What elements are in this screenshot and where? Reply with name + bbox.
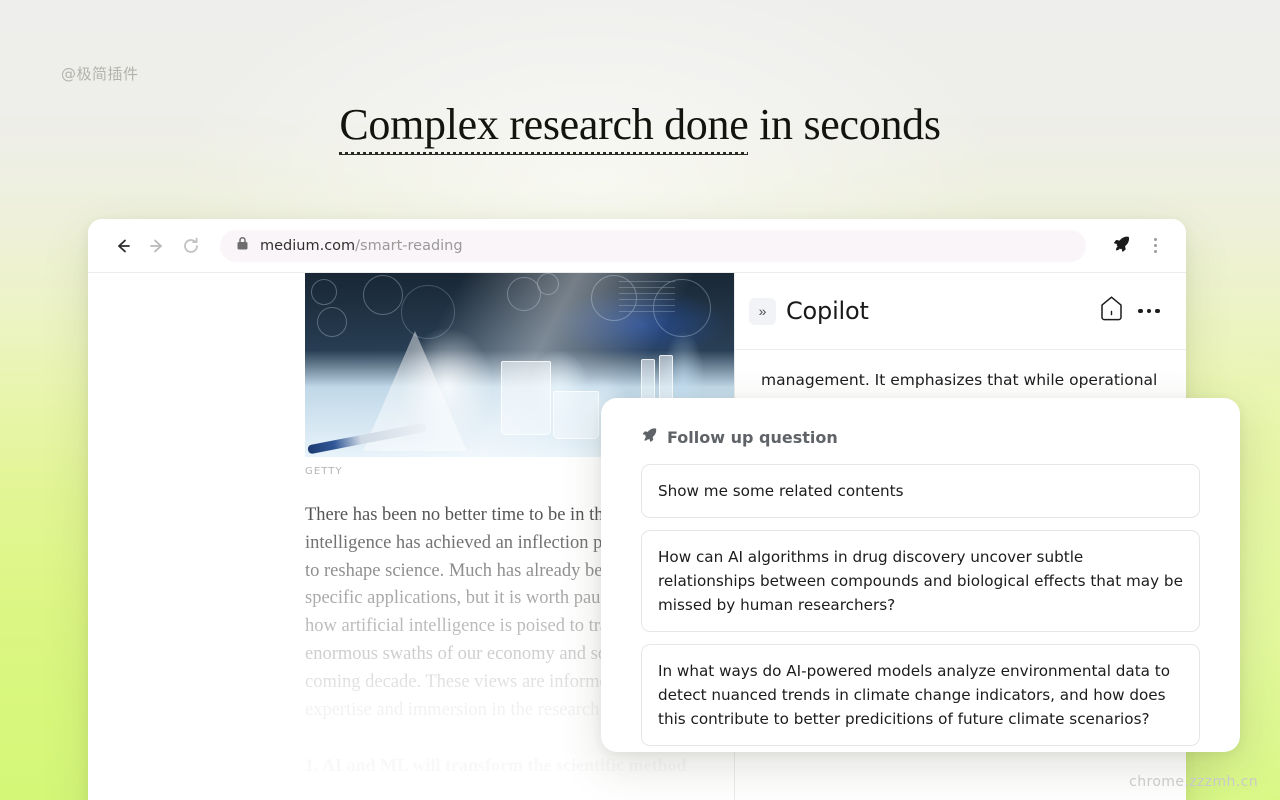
address-bar-path: /smart-reading [355,238,462,254]
forward-button[interactable] [140,229,174,263]
copilot-header: » Copilot [735,273,1186,350]
address-bar[interactable]: medium.com/smart-reading [220,230,1086,262]
copilot-collapse-button[interactable]: » [749,298,776,325]
reload-button[interactable] [174,229,208,263]
browser-menu-button[interactable] [1138,229,1172,263]
page-title: Complex research done in seconds [0,99,1280,151]
copilot-more-button[interactable] [1134,296,1164,326]
browser-toolbar: medium.com/smart-reading [88,219,1186,272]
watermark-top-left: @极简插件 [61,63,139,84]
address-bar-url: medium.com/smart-reading [260,238,463,254]
rocket-icon [641,426,658,448]
home-pentagon-icon [1099,295,1124,327]
page-title-rest-part: in seconds [748,100,940,149]
copilot-home-button[interactable] [1099,295,1124,327]
extension-button[interactable] [1104,229,1138,263]
three-dots-horizontal-icon [1138,309,1160,314]
address-bar-host: medium.com [260,238,355,254]
follow-up-suggestion[interactable]: How can AI algorithms in drug discovery … [641,530,1200,632]
follow-up-header: Follow up question [641,426,1200,448]
chevron-double-right-icon: » [759,303,767,319]
reload-icon [181,236,201,256]
follow-up-title: Follow up question [667,428,838,447]
arrow-left-icon [113,236,133,256]
copilot-title: Copilot [786,297,1089,325]
watermark-bottom-right: chrome.zzzmh.cn [1129,774,1258,790]
three-dots-vertical-icon [1154,238,1157,253]
page-title-underlined-part: Complex research done [339,100,748,151]
rocket-icon [1112,234,1131,258]
follow-up-suggestion[interactable]: In what ways do AI-powered models analyz… [641,644,1200,746]
arrow-right-icon [147,236,167,256]
lock-icon [236,236,249,256]
back-button[interactable] [106,229,140,263]
follow-up-suggestion[interactable]: Show me some related contents [641,464,1200,518]
follow-up-question-panel: Follow up question Show me some related … [601,398,1240,752]
article-heading-1: 1. AI and ML will transform the scientif… [305,752,734,778]
